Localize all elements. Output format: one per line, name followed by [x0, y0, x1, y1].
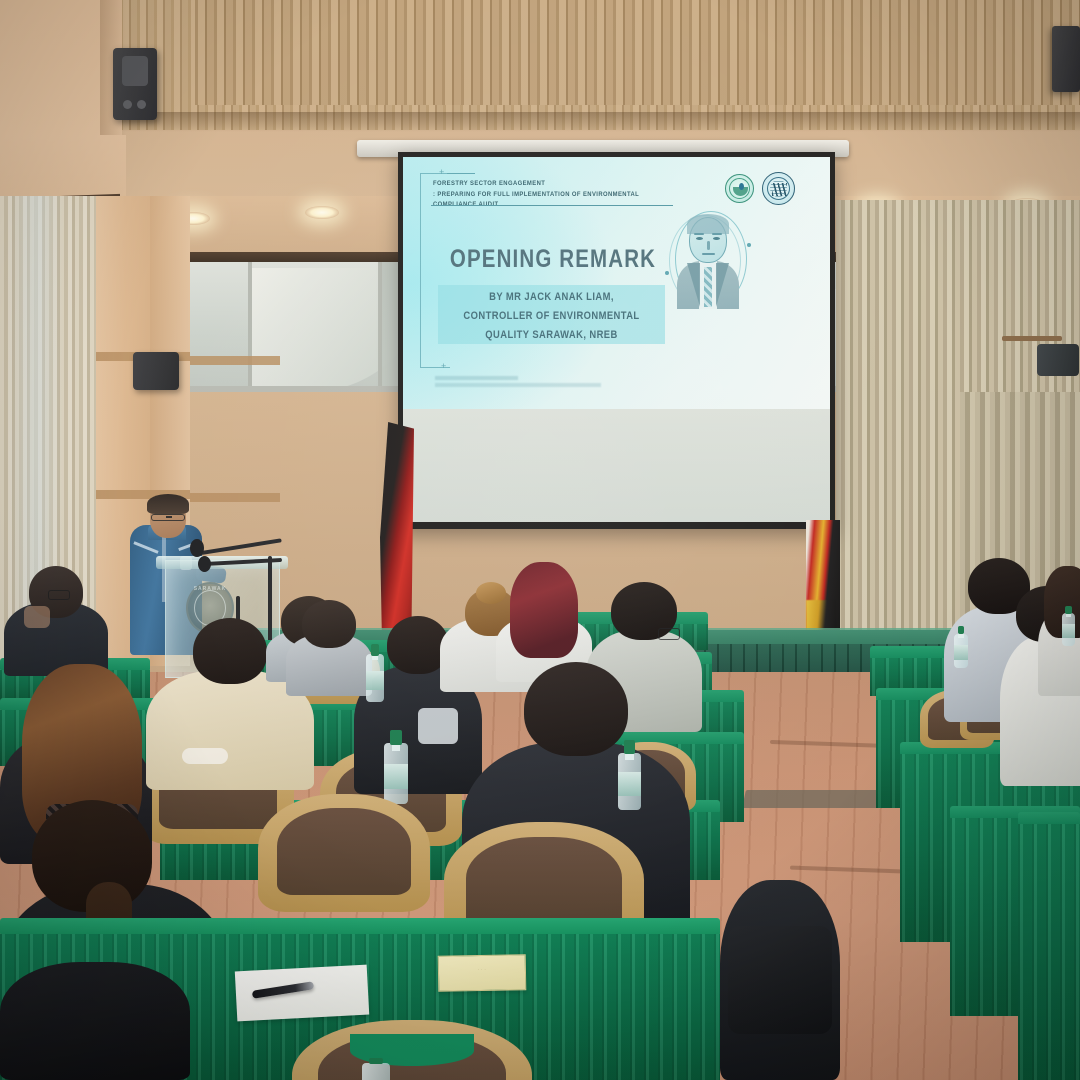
- slat-shadow: [120, 112, 1080, 132]
- forestry-department-emblem-icon: [725, 174, 754, 203]
- screen-blank-area: [403, 409, 830, 522]
- eyeglasses-bridge: [166, 516, 172, 518]
- slide-subject-line1: BY MR JACK ANAK LIAM,: [456, 288, 647, 307]
- place-card-text: · · ·: [438, 967, 526, 972]
- audience-member: [4, 566, 108, 676]
- slide-subject: BY MR JACK ANAK LIAM, CONTROLLER OF ENVI…: [456, 288, 647, 345]
- slide-header-line2: : PREPARING FOR FULL IMPLEMENTATION OF E…: [433, 190, 680, 211]
- slide-subject-line3: QUALITY SARAWAK, NREB: [456, 326, 647, 345]
- audience-member: [286, 600, 372, 696]
- slide-footer-note: [435, 376, 615, 387]
- microphone-capsule: [198, 556, 211, 572]
- screen-surface: + + FORESTRY SECTOR ENGAGEMENT : PREPARI…: [403, 157, 830, 522]
- audience-member: [0, 960, 190, 1080]
- eyeglasses-icon: [48, 590, 70, 600]
- slide-portrait-illustration: [671, 209, 747, 309]
- water-bottle: [384, 730, 408, 804]
- projection-screen: + + FORESTRY SECTOR ENGAGEMENT : PREPARI…: [398, 152, 835, 529]
- column-band: [190, 493, 280, 502]
- loudspeaker-icon: [1037, 344, 1079, 376]
- water-bottle: [366, 644, 384, 702]
- shirt-collar: [418, 708, 458, 744]
- speaker-bracket: [1002, 336, 1062, 341]
- chair: [292, 1020, 532, 1080]
- glazing-mullion: [378, 262, 382, 392]
- podium-emblem-label: SARAWAK: [186, 586, 234, 592]
- loudspeaker-icon: [133, 352, 179, 390]
- slide-header-rule: [431, 205, 673, 206]
- loudspeaker-icon: [1052, 26, 1080, 92]
- downlight-icon: [305, 206, 339, 219]
- place-card: [438, 954, 527, 992]
- slide-tick: [447, 173, 475, 174]
- eyeglasses-icon: [658, 628, 680, 640]
- slide-title: OPENING REMARK: [430, 245, 676, 274]
- slide-header-line1: FORESTRY SECTOR ENGAGEMENT: [433, 179, 680, 190]
- chair: [258, 794, 430, 912]
- water-bottle: [362, 1058, 390, 1080]
- conference-hall-photo: + + FORESTRY SECTOR ENGAGEMENT : PREPARI…: [0, 0, 1080, 1080]
- column-band: [190, 356, 280, 365]
- backpack: [728, 926, 832, 1034]
- timber-slat-panel-upper: [195, 0, 1080, 105]
- speaker-hair: [147, 494, 189, 514]
- water-bottle: [1062, 606, 1075, 646]
- nreb-seal-icon: [762, 172, 795, 205]
- glazing-mullion: [248, 262, 252, 392]
- microphone-capsule: [190, 539, 204, 557]
- loudspeaker-icon: [113, 48, 157, 120]
- presentation-slide: + + FORESTRY SECTOR ENGAGEMENT : PREPARI…: [403, 157, 830, 409]
- slide-subject-line2: CONTROLLER OF ENVIRONMENTAL: [456, 307, 647, 326]
- water-bottle: [618, 740, 641, 810]
- water-bottle: [954, 626, 968, 668]
- slide-plus-mark: +: [441, 362, 446, 371]
- slide-plus-mark: +: [439, 168, 444, 177]
- table: [1018, 812, 1080, 1080]
